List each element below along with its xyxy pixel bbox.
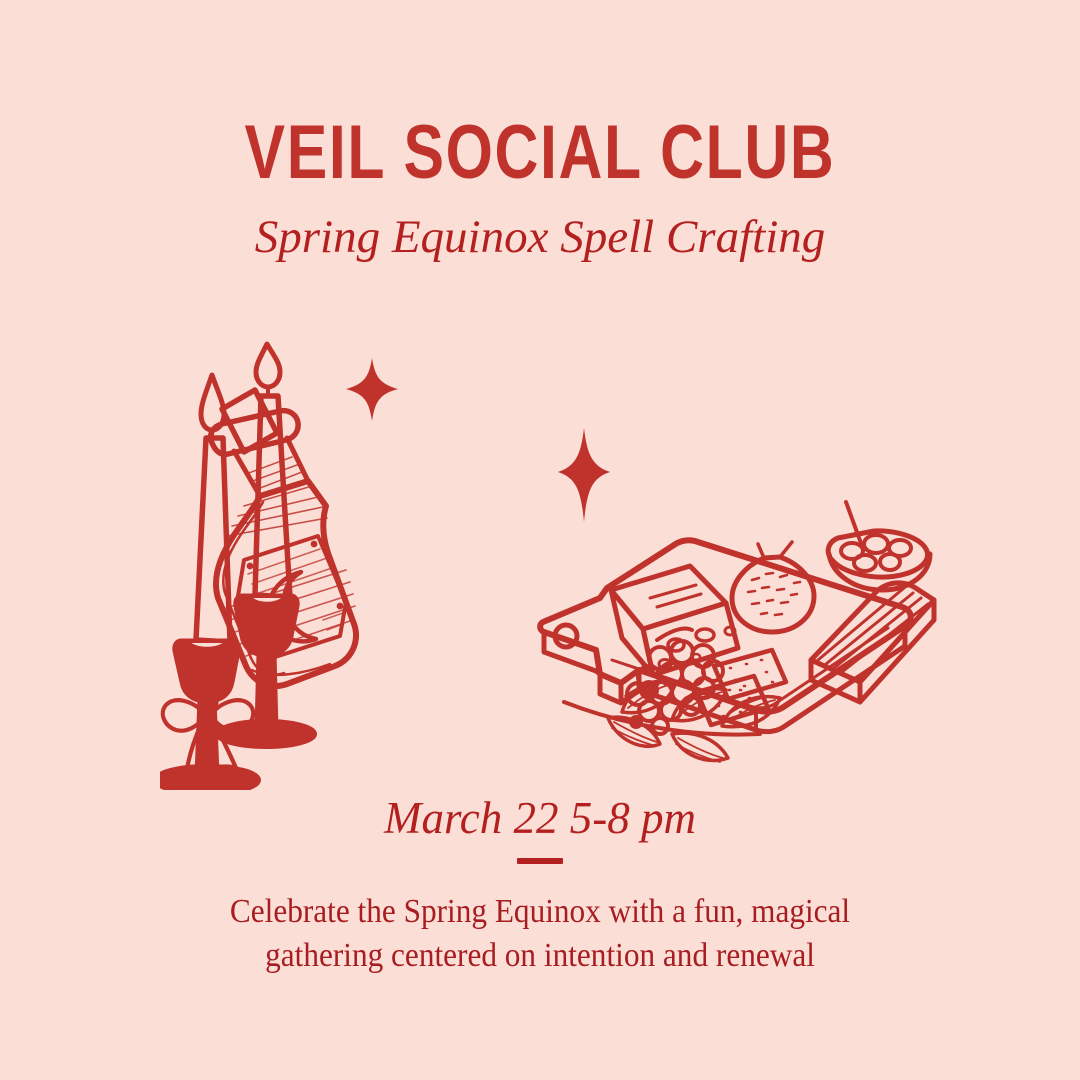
page-subtitle: Spring Equinox Spell Crafting (0, 208, 1080, 266)
taper-candle-tall (160, 375, 259, 790)
description-line-2: gathering centered on intention and rene… (43, 934, 1037, 978)
olive-bowl (828, 502, 930, 590)
divider-rule (517, 858, 563, 864)
event-description: Celebrate the Spring Equinox with a fun,… (43, 890, 1037, 978)
charcuterie-board (540, 502, 934, 734)
sparkle-star-left (346, 358, 398, 421)
illustration (160, 330, 940, 790)
event-poster: VEIL SOCIAL CLUB Spring Equinox Spell Cr… (0, 0, 1080, 1080)
page-title: VEIL SOCIAL CLUB (108, 110, 972, 196)
sparkle-star-right (558, 428, 610, 522)
event-date-time: March 22 5-8 pm (0, 790, 1080, 846)
description-line-1: Celebrate the Spring Equinox with a fun,… (43, 890, 1037, 934)
